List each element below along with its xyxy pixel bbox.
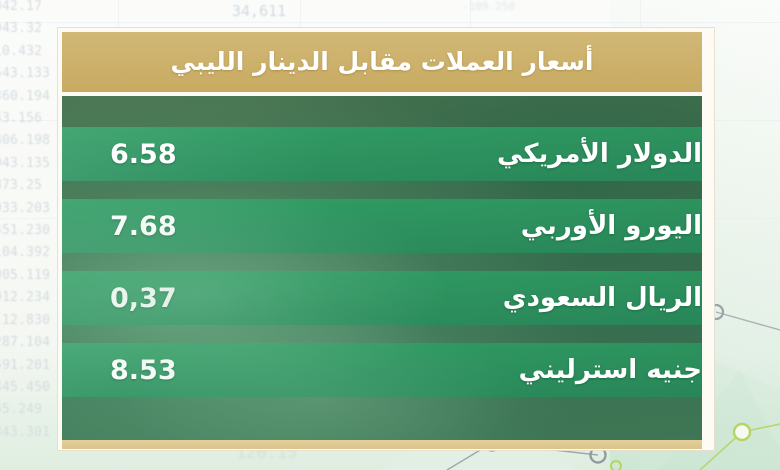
- currency-name: الدولار الأمريكي: [497, 139, 702, 169]
- currency-rates-graphic: 042.17 943.32 10.432 543.133 360.194 43.…: [0, 0, 780, 470]
- currency-rate: 8.53: [110, 355, 177, 386]
- rates-panel: الدولار الأمريكي 6.58 اليورو الأوربي 7.6…: [62, 96, 702, 440]
- background-ticker-top: 34,611: [232, 2, 286, 20]
- rates-table: الدولار الأمريكي 6.58 اليورو الأوربي 7.6…: [62, 127, 702, 415]
- currency-rate: 0,37: [110, 283, 177, 314]
- currency-rate: 7.68: [110, 211, 177, 242]
- background-ticker-top-secondary: -109.250: [462, 0, 515, 13]
- table-row[interactable]: جنيه استرليني 8.53: [62, 343, 702, 397]
- currency-name: الريال السعودي: [503, 283, 702, 313]
- table-row[interactable]: الريال السعودي 0,37: [62, 271, 702, 325]
- page-title: أسعار العملات مقابل الدينار الليبي: [171, 47, 594, 78]
- table-row[interactable]: اليورو الأوربي 7.68: [62, 199, 702, 253]
- table-row[interactable]: الدولار الأمريكي 6.58: [62, 127, 702, 181]
- currency-name: اليورو الأوربي: [521, 211, 702, 241]
- currency-rate: 6.58: [110, 139, 177, 170]
- card-header: أسعار العملات مقابل الدينار الليبي: [62, 32, 702, 92]
- card-footer-strip: [62, 440, 702, 449]
- currency-name: جنيه استرليني: [519, 355, 702, 385]
